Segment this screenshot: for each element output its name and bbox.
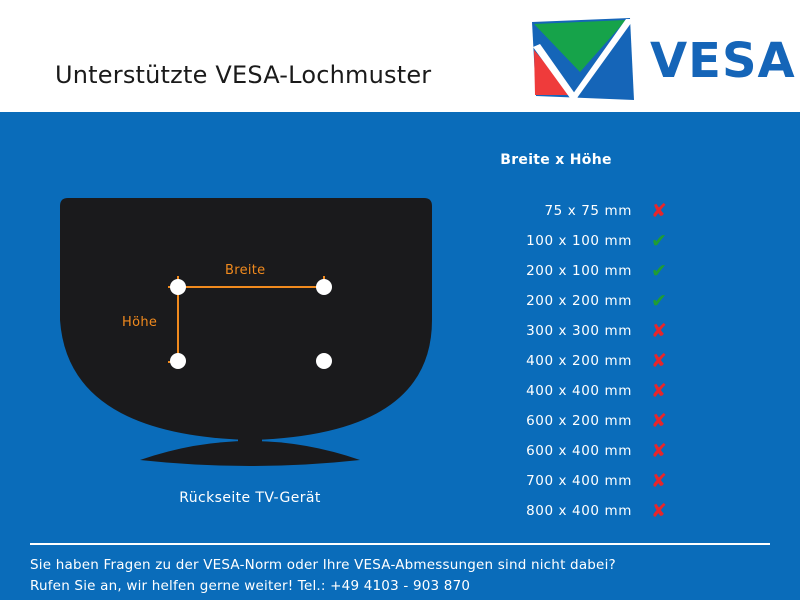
size-table-rows: 75 x 75 mm✘100 x 100 mm✔200 x 100 mm✔200… bbox=[470, 200, 730, 530]
size-label: 600 x 200 mm bbox=[470, 413, 632, 429]
size-label: 300 x 300 mm bbox=[470, 323, 632, 339]
height-dimension-label: Höhe bbox=[122, 315, 157, 330]
supported-check-icon: ✔ bbox=[646, 290, 672, 312]
size-label: 75 x 75 mm bbox=[470, 203, 632, 219]
content-panel: Breite Höhe Rückseite TV-Gerät Breite x … bbox=[0, 112, 800, 600]
table-row: 600 x 400 mm✘ bbox=[470, 440, 730, 470]
supported-check-icon: ✔ bbox=[646, 230, 672, 252]
width-dimension-label: Breite bbox=[225, 263, 265, 278]
vesa-checkmark-logo-icon bbox=[530, 18, 636, 104]
size-label: 800 x 400 mm bbox=[470, 503, 632, 519]
table-row: 400 x 400 mm✘ bbox=[470, 380, 730, 410]
tv-diagram-caption: Rückseite TV-Gerät bbox=[40, 490, 460, 506]
footer-line-2: Rufen Sie an, wir helfen gerne weiter! T… bbox=[30, 576, 780, 597]
unsupported-cross-icon: ✘ bbox=[646, 320, 672, 342]
size-table-header: Breite x Höhe bbox=[470, 152, 642, 168]
unsupported-cross-icon: ✘ bbox=[646, 350, 672, 372]
size-label: 200 x 200 mm bbox=[470, 293, 632, 309]
footer-contact-text: Sie haben Fragen zu der VESA-Norm oder I… bbox=[30, 555, 780, 597]
table-row: 800 x 400 mm✘ bbox=[470, 500, 730, 530]
unsupported-cross-icon: ✘ bbox=[646, 200, 672, 222]
mount-hole-bottom-left bbox=[170, 353, 186, 369]
size-label: 600 x 400 mm bbox=[470, 443, 632, 459]
tv-illustration-svg bbox=[40, 190, 460, 490]
tv-body bbox=[60, 198, 432, 440]
mount-hole-top-left bbox=[170, 279, 186, 295]
vesa-infographic-page: Unterstützte VESA-Lochmuster VESA bbox=[0, 0, 800, 600]
size-label: 700 x 400 mm bbox=[470, 473, 632, 489]
tv-diagram: Breite Höhe Rückseite TV-Gerät bbox=[40, 190, 460, 530]
unsupported-cross-icon: ✘ bbox=[646, 500, 672, 522]
table-row: 400 x 200 mm✘ bbox=[470, 350, 730, 380]
size-label: 400 x 400 mm bbox=[470, 383, 632, 399]
table-row: 200 x 200 mm✔ bbox=[470, 290, 730, 320]
size-label: 400 x 200 mm bbox=[470, 353, 632, 369]
table-row: 100 x 100 mm✔ bbox=[470, 230, 730, 260]
footer-divider bbox=[30, 543, 770, 545]
supported-check-icon: ✔ bbox=[646, 260, 672, 282]
unsupported-cross-icon: ✘ bbox=[646, 410, 672, 432]
table-row: 700 x 400 mm✘ bbox=[470, 470, 730, 500]
mount-hole-top-right bbox=[316, 279, 332, 295]
footer-line-1: Sie haben Fragen zu der VESA-Norm oder I… bbox=[30, 555, 780, 576]
mount-hole-bottom-right bbox=[316, 353, 332, 369]
table-row: 75 x 75 mm✘ bbox=[470, 200, 730, 230]
vesa-logo: VESA bbox=[530, 18, 792, 104]
unsupported-cross-icon: ✘ bbox=[646, 440, 672, 462]
page-title: Unterstützte VESA-Lochmuster bbox=[55, 61, 431, 89]
header-bar: Unterstützte VESA-Lochmuster VESA bbox=[0, 0, 800, 112]
table-row: 600 x 200 mm✘ bbox=[470, 410, 730, 440]
unsupported-cross-icon: ✘ bbox=[646, 470, 672, 492]
size-label: 200 x 100 mm bbox=[470, 263, 632, 279]
vesa-wordmark: VESA bbox=[650, 36, 796, 86]
size-label: 100 x 100 mm bbox=[470, 233, 632, 249]
unsupported-cross-icon: ✘ bbox=[646, 380, 672, 402]
table-row: 200 x 100 mm✔ bbox=[470, 260, 730, 290]
table-row: 300 x 300 mm✘ bbox=[470, 320, 730, 350]
